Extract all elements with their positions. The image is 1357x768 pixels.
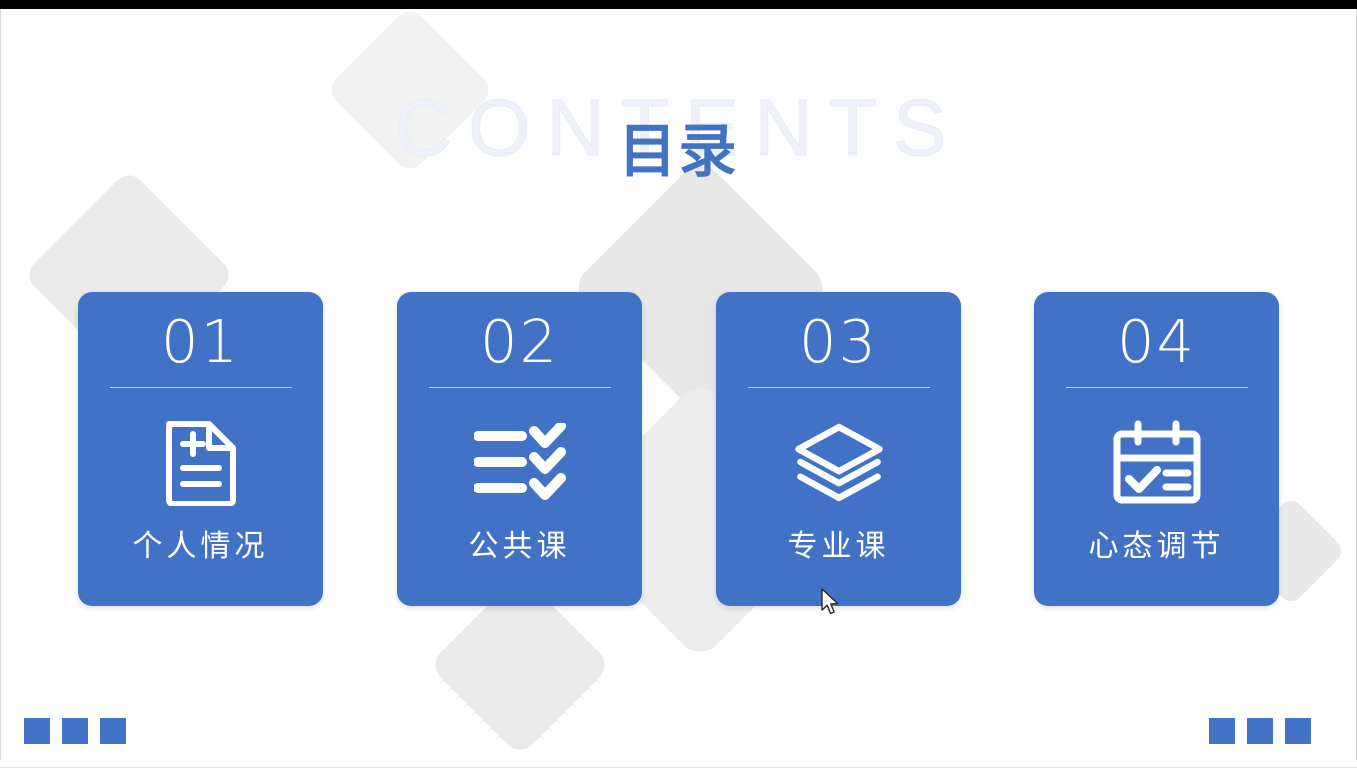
corner-squares-left (24, 718, 126, 744)
contents-card-02[interactable]: 02 公共课 (397, 292, 642, 606)
card-divider (1066, 387, 1248, 388)
page-title: 目录 (0, 123, 1357, 181)
calendar-check-icon (1111, 416, 1203, 508)
card-label: 个人情况 (133, 532, 269, 562)
document-plus-icon (155, 416, 247, 508)
contents-card-list: 01 个人情况 02 (0, 292, 1357, 606)
card-number: 04 (1117, 312, 1196, 371)
layers-icon (793, 416, 885, 508)
card-divider (748, 387, 930, 388)
card-number: 01 (161, 312, 240, 371)
card-number: 02 (480, 312, 559, 371)
card-label: 心态调节 (1089, 532, 1225, 562)
card-label: 公共课 (469, 532, 571, 562)
contents-card-01[interactable]: 01 个人情况 (78, 292, 323, 606)
presentation-slide: CONTENTS 目录 01 个人情况 02 (0, 0, 1357, 768)
decorative-square (100, 718, 126, 744)
card-label: 专业课 (788, 532, 890, 562)
decorative-square (1285, 718, 1311, 744)
slide-header: CONTENTS 目录 (0, 40, 1357, 170)
window-top-bar (0, 0, 1357, 9)
corner-squares-right (1209, 718, 1311, 744)
card-divider (429, 387, 611, 388)
contents-card-03[interactable]: 03 专业课 (716, 292, 961, 606)
card-divider (110, 387, 292, 388)
card-number: 03 (799, 312, 878, 371)
decorative-square (1209, 718, 1235, 744)
contents-card-04[interactable]: 04 心态调节 (1034, 292, 1279, 606)
decorative-square (62, 718, 88, 744)
checklist-icon (474, 416, 566, 508)
decorative-square (1247, 718, 1273, 744)
decorative-square (24, 718, 50, 744)
